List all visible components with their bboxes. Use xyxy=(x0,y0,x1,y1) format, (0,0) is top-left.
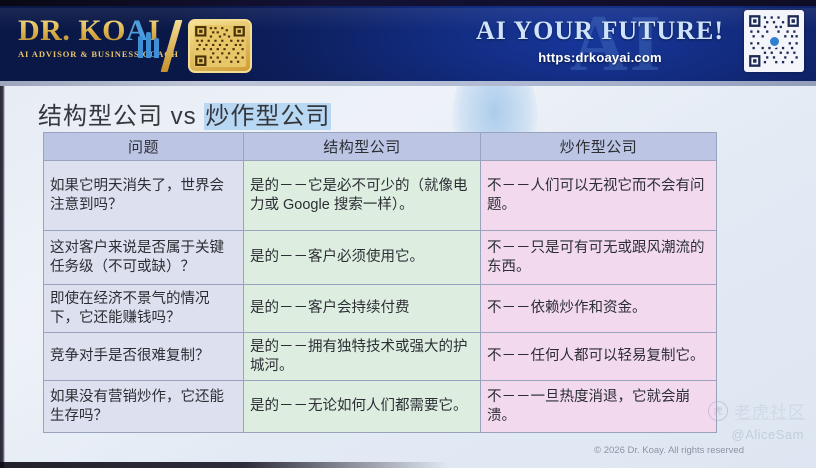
banner-slogan: AI YOUR FUTURE! https:drkoayai.com xyxy=(470,16,730,65)
cell-hype: 不－－任何人都可以轻易复制它。 xyxy=(481,333,717,381)
cell-structured: 是的－－无论如何人们都需要它。 xyxy=(244,381,481,433)
table-row: 竞争对手是否很难复制？ 是的－－拥有独特技术或强大的护城河。 不－－任何人都可以… xyxy=(44,333,717,381)
copyright-notice: © 2026 Dr. Koay. All rights reserved xyxy=(594,445,744,456)
page-title-part1: 结构型公司 vs xyxy=(38,103,204,130)
frame-edge-left xyxy=(0,86,5,468)
logo-wordmark-prefix: DR. KO xyxy=(18,14,126,47)
cell-question: 这对客户来说是否属于关键任务级（不可或缺）？ xyxy=(44,231,244,285)
page-title: 结构型公司 vs 炒作型公司 xyxy=(38,96,331,131)
cell-hype: 不－－一旦热度消退，它就会崩溃。 xyxy=(481,381,717,433)
comparison-table: 问题 结构型公司 炒作型公司 如果它明天消失了，世界会注意到吗？ 是的－－它是必… xyxy=(43,132,717,433)
brand-banner: AI DR. KOAI AI ADVISOR & BUSINESS COACH xyxy=(0,0,816,86)
table-row: 即使在经济不景气的情况下，它还能赚钱吗？ 是的－－客户会持续付费 不－－依赖炒作… xyxy=(44,285,717,333)
table-row: 如果没有营销炒作，它还能生存吗？ 是的－－无论如何人们都需要它。 不－－一旦热度… xyxy=(44,381,717,433)
cell-hype: 不－－只是可有可无或跟风潮流的东西。 xyxy=(481,231,717,285)
slogan-headline: AI YOUR FUTURE! xyxy=(470,16,730,46)
watermark-logo-icon: 虎 xyxy=(708,401,728,421)
qr-center-dot-icon xyxy=(768,35,781,48)
page-title-part2: 炒作型公司 xyxy=(204,103,331,130)
screenshot-root: AI DR. KOAI AI ADVISOR & BUSINESS COACH xyxy=(0,0,816,468)
slide-body: 结构型公司 vs 炒作型公司 问题 结构型公司 炒作型公司 如果它明天消失了，世… xyxy=(0,86,816,468)
cell-structured: 是的－－客户会持续付费 xyxy=(244,285,481,333)
table-row: 如果它明天消失了，世界会注意到吗？ 是的－－它是必不可少的（就像电力或 Goog… xyxy=(44,161,717,231)
cell-question: 如果没有营销炒作，它还能生存吗？ xyxy=(44,381,244,433)
cell-question: 竞争对手是否很难复制？ xyxy=(44,333,244,381)
cell-hype: 不－－人们可以无视它而不会有问题。 xyxy=(481,161,717,231)
cell-question: 即使在经济不景气的情况下，它还能赚钱吗？ xyxy=(44,285,244,333)
column-header-hype: 炒作型公司 xyxy=(481,133,717,161)
watermark: 虎 老虎社区 xyxy=(708,398,806,423)
slogan-url[interactable]: https:drkoayai.com xyxy=(470,50,730,65)
logo-figures-icon xyxy=(136,30,166,58)
column-header-question: 问题 xyxy=(44,133,244,161)
qr-code-white-icon[interactable] xyxy=(744,10,804,72)
column-header-structured: 结构型公司 xyxy=(244,133,481,161)
brand-logo: DR. KOAI AI ADVISOR & BUSINESS COACH xyxy=(18,14,188,74)
table-row: 这对客户来说是否属于关键任务级（不可或缺）？ 是的－－客户必须使用它。 不－－只… xyxy=(44,231,717,285)
cell-structured: 是的－－客户必须使用它。 xyxy=(244,231,481,285)
cell-structured: 是的－－它是必不可少的（就像电力或 Google 搜索一样）。 xyxy=(244,161,481,231)
qr-gold-pattern xyxy=(194,25,246,67)
cell-structured: 是的－－拥有独特技术或强大的护城河。 xyxy=(244,333,481,381)
cell-hype: 不－－依赖炒作和资金。 xyxy=(481,285,717,333)
watermark-text: 老虎社区 xyxy=(734,398,806,423)
table-header-row: 问题 结构型公司 炒作型公司 xyxy=(44,133,717,161)
watermark-handle: @AliceSam xyxy=(731,427,804,442)
qr-code-gold-icon[interactable] xyxy=(188,19,252,73)
cell-question: 如果它明天消失了，世界会注意到吗？ xyxy=(44,161,244,231)
frame-edge-bottom xyxy=(0,462,816,468)
